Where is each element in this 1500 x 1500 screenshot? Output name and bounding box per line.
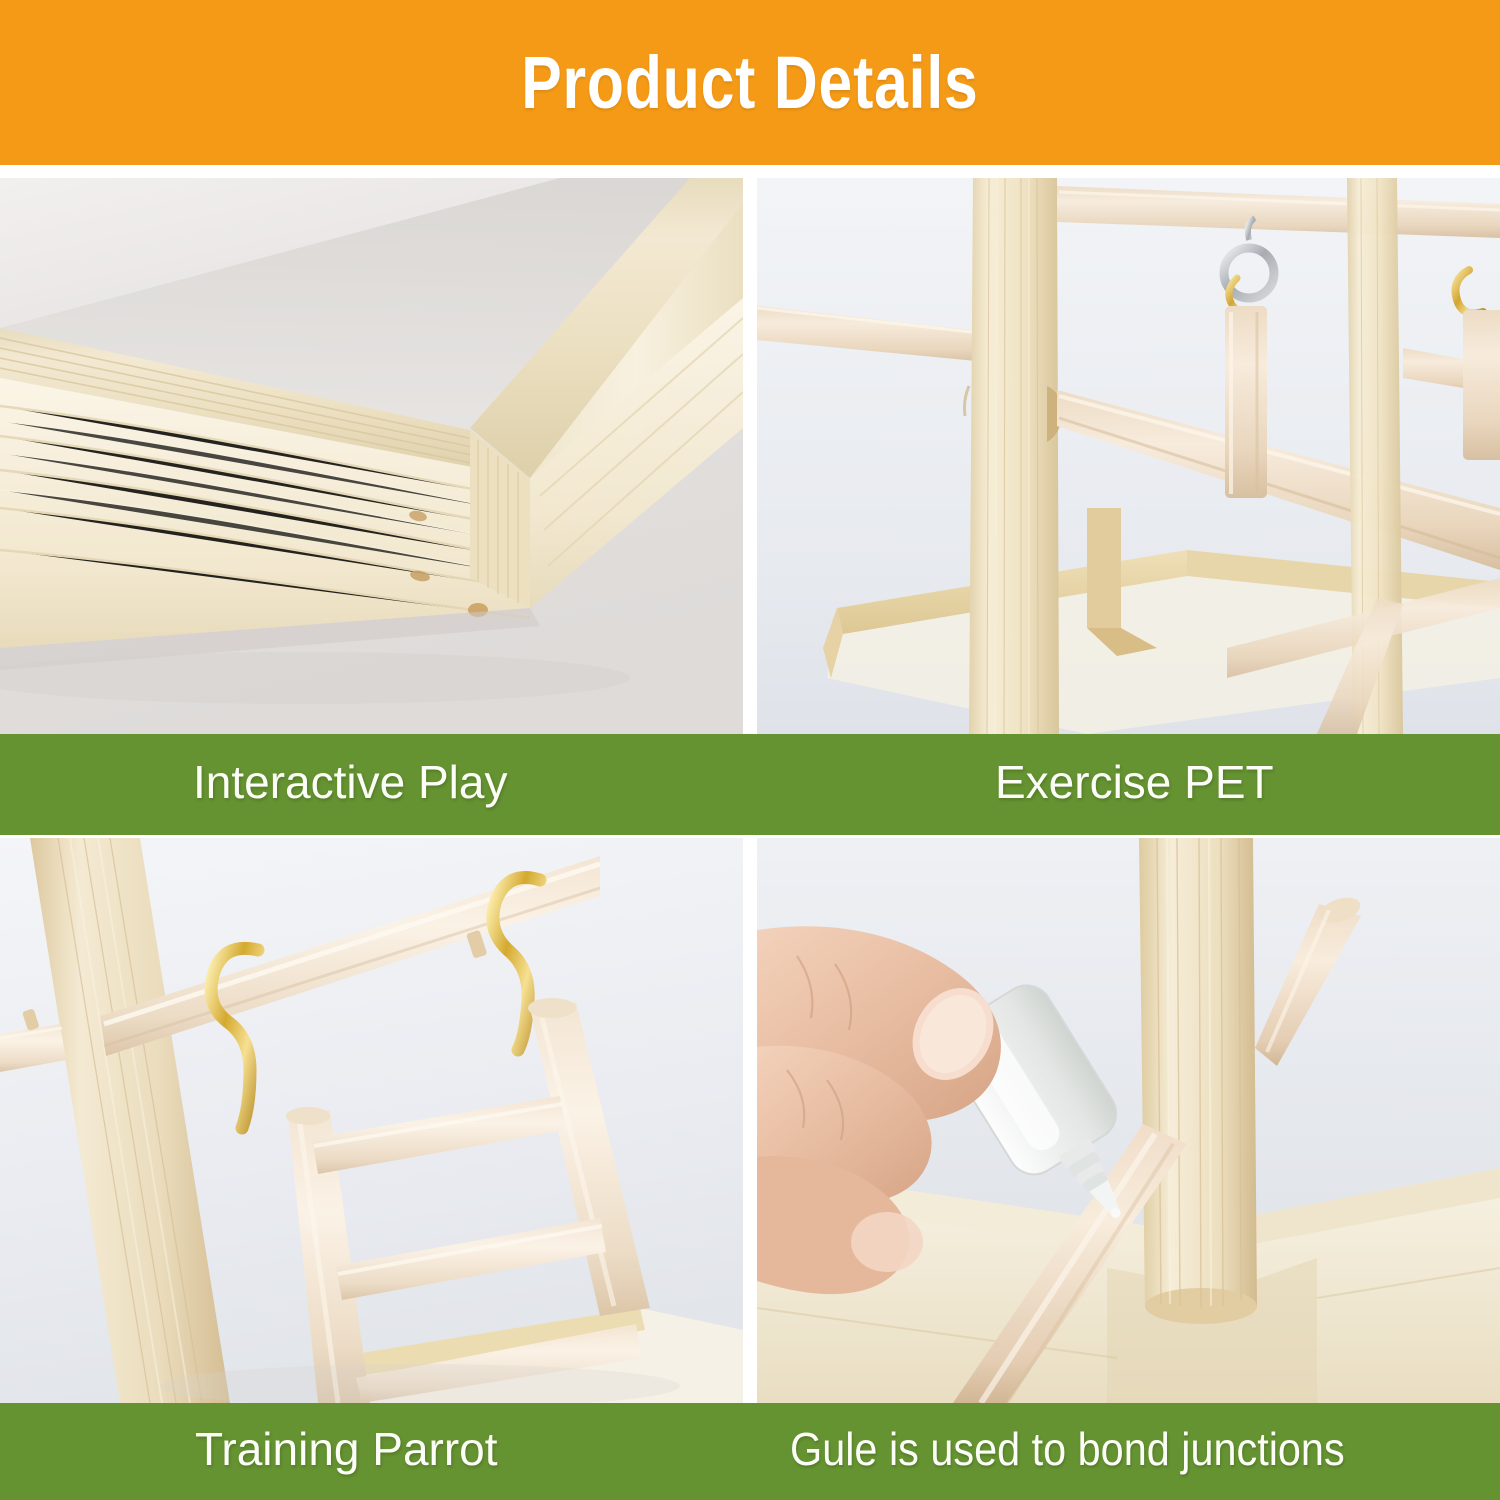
- caption-exercise-pet: Exercise PET: [995, 755, 1274, 809]
- caption-bar-bottom: Training Parrot Gule is used to bond jun…: [0, 1403, 1500, 1500]
- caption-glue-bonding: Gule is used to bond junctions: [790, 1422, 1345, 1476]
- photo-glue-bonding: [757, 838, 1500, 1403]
- photo-exercise-pet: [757, 178, 1500, 734]
- dowel-joint-illustration: [757, 178, 1500, 734]
- photo-interactive-play: [0, 178, 743, 734]
- wooden-frame-corner-illustration: [0, 178, 743, 734]
- hand-glue-illustration: [757, 838, 1500, 1403]
- caption-training-parrot: Training Parrot: [195, 1422, 498, 1476]
- photo-training-parrot: [0, 838, 743, 1403]
- ladder-hooks-illustration: [0, 838, 743, 1403]
- caption-interactive-play: Interactive Play: [193, 755, 507, 809]
- page-title: Product Details: [521, 40, 978, 125]
- page-header-banner: Product Details: [0, 0, 1500, 165]
- caption-bar-top: Interactive Play Exercise PET: [0, 734, 1500, 835]
- product-details-page: Product Details: [0, 0, 1500, 1500]
